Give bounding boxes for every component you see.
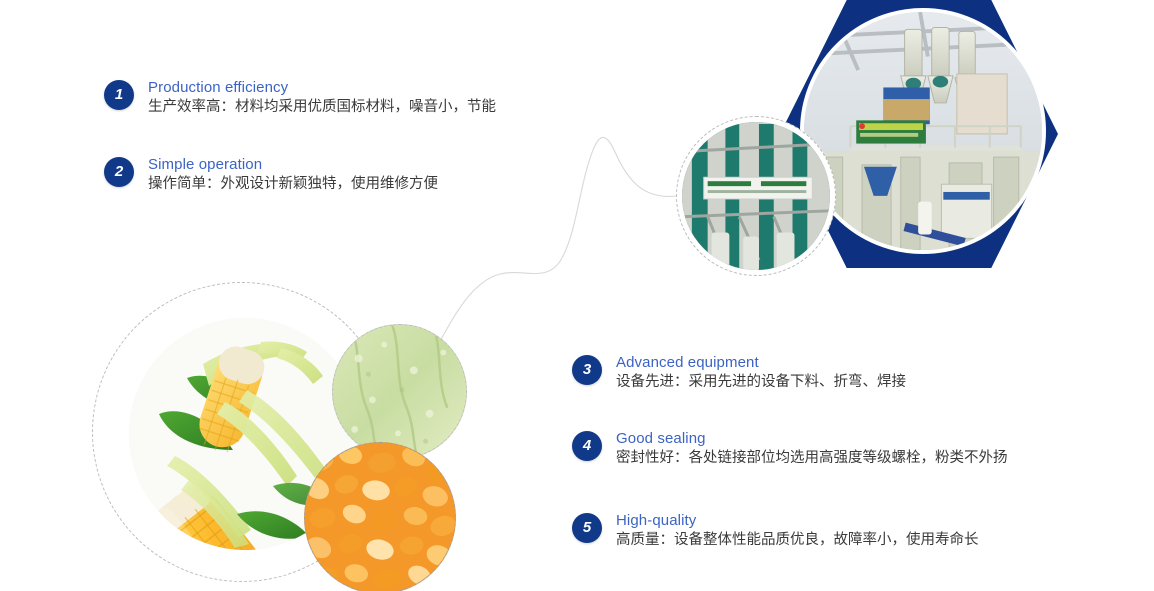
- feature-desc-5: 高质量：设备整体性能品质优良，故障率小，使用寿命长: [616, 530, 979, 551]
- corn-image-group: [92, 282, 472, 591]
- feature-item-4[interactable]: 4 Good sealing 密封性好：各处链接部位均选用高强度等级螺栓，粉类不…: [572, 429, 1008, 469]
- feature-title-4: Good sealing: [616, 429, 1008, 448]
- feature-item-1[interactable]: 1 Production efficiency 生产效率高：材料均采用优质国标材…: [104, 78, 496, 118]
- feature-item-3[interactable]: 3 Advanced equipment 设备先进：采用先进的设备下料、折弯、焊…: [572, 353, 906, 393]
- feature-item-2[interactable]: 2 Simple operation 操作简单：外观设计新颖独特，使用维修方便: [104, 155, 438, 195]
- feature-item-5[interactable]: 5 High-quality 高质量：设备整体性能品质优良，故障率小，使用寿命长: [572, 511, 979, 551]
- small-photo: [682, 122, 830, 270]
- feature-badge-4: 4: [572, 431, 602, 461]
- feature-desc-3: 设备先进：采用先进的设备下料、折弯、焊接: [616, 372, 906, 393]
- hexagon-photo: [800, 8, 1046, 254]
- feature-badge-2: 2: [104, 157, 134, 187]
- feature-badge-1: 1: [104, 80, 134, 110]
- small-photo-circle: [676, 116, 836, 276]
- feature-text-3: Advanced equipment 设备先进：采用先进的设备下料、折弯、焊接: [616, 353, 906, 393]
- hexagon-image-group: [672, 0, 1072, 280]
- feature-text-5: High-quality 高质量：设备整体性能品质优良，故障率小，使用寿命长: [616, 511, 979, 551]
- feature-desc-1: 生产效率高：材料均采用优质国标材料，噪音小，节能: [148, 97, 496, 118]
- feature-title-3: Advanced equipment: [616, 353, 906, 372]
- corn-paste-photo: [332, 324, 467, 459]
- corn-kernels-photo: [304, 442, 456, 591]
- feature-text-1: Production efficiency 生产效率高：材料均采用优质国标材料，…: [148, 78, 496, 118]
- feature-desc-4: 密封性好：各处链接部位均选用高强度等级螺栓，粉类不外扬: [616, 448, 1008, 469]
- feature-badge-5: 5: [572, 513, 602, 543]
- feature-highlight-page: 1 Production efficiency 生产效率高：材料均采用优质国标材…: [0, 0, 1154, 591]
- feature-title-1: Production efficiency: [148, 78, 496, 97]
- feature-desc-2: 操作简单：外观设计新颖独特，使用维修方便: [148, 174, 438, 195]
- feature-text-4: Good sealing 密封性好：各处链接部位均选用高强度等级螺栓，粉类不外扬: [616, 429, 1008, 469]
- feature-title-5: High-quality: [616, 511, 979, 530]
- feature-badge-3: 3: [572, 355, 602, 385]
- feature-title-2: Simple operation: [148, 155, 438, 174]
- feature-text-2: Simple operation 操作简单：外观设计新颖独特，使用维修方便: [148, 155, 438, 195]
